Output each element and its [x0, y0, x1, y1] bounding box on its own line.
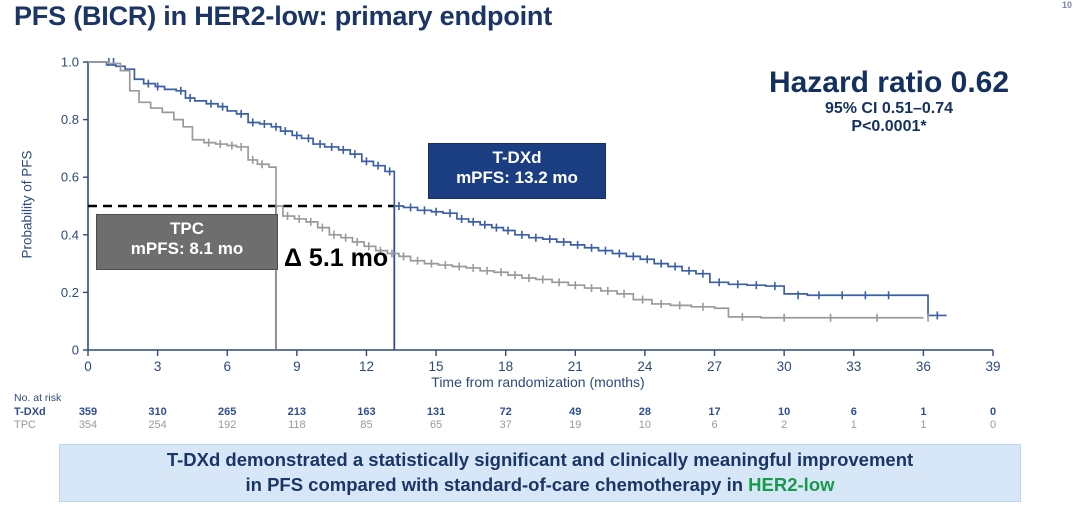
tpc-median-callout: TPC mPFS: 8.1 mo	[96, 214, 278, 270]
risk-cell: 19	[555, 419, 595, 431]
x-tick-label: 9	[293, 359, 301, 374]
tpc-arm-label: TPC	[107, 219, 267, 239]
tdxd-median-callout: T-DXd mPFS: 13.2 mo	[428, 143, 606, 199]
risk-cell: 49	[555, 406, 595, 418]
x-axis-title: Time from randomization (months)	[88, 374, 988, 390]
tdxd-mpfs-label: mPFS: 13.2 mo	[439, 168, 595, 188]
risk-cell: 85	[346, 419, 386, 431]
risk-table-rows: T-DXd3593102652131631317249281710610TPC3…	[14, 406, 1074, 432]
risk-cell: 10	[764, 406, 804, 418]
banner-highlight-term: HER2-low	[748, 474, 834, 495]
kaplan-meier-plot: 00.20.40.60.81.0036912151821242730333639…	[0, 0, 1080, 440]
risk-cell: 192	[207, 419, 247, 431]
x-tick-label: 33	[846, 359, 861, 374]
risk-cell: 2	[764, 419, 804, 431]
x-tick-label: 24	[637, 359, 653, 374]
conclusion-banner: T-DXd demonstrated a statistically signi…	[59, 444, 1021, 502]
slide-root: PFS (BICR) in HER2-low: primary endpoint…	[0, 0, 1080, 507]
y-tick-label: 0	[72, 343, 79, 358]
delta-annotation: Δ 5.1 mo	[284, 244, 388, 273]
risk-cell: 37	[486, 419, 526, 431]
risk-cell: 6	[834, 406, 874, 418]
number-at-risk-table: No. at risk T-DXd35931026521316313172492…	[14, 392, 1074, 432]
banner-line-2-text: in PFS compared with standard-of-care ch…	[245, 474, 748, 495]
risk-cell: 359	[68, 406, 108, 418]
y-tick-label: 0.4	[61, 227, 79, 242]
risk-cell: 254	[138, 419, 178, 431]
risk-cell: 163	[346, 406, 386, 418]
risk-cell: 1	[903, 419, 943, 431]
risk-cell: 65	[416, 419, 456, 431]
y-tick-label: 0.2	[61, 285, 79, 300]
x-tick-label: 36	[916, 359, 931, 374]
risk-cell: 72	[486, 406, 526, 418]
risk-cell: 0	[973, 406, 1013, 418]
banner-line-2: in PFS compared with standard-of-care ch…	[245, 473, 834, 498]
x-tick-label: 27	[707, 359, 722, 374]
risk-cell: 1	[834, 419, 874, 431]
risk-cell: 265	[207, 406, 247, 418]
x-tick-label: 39	[985, 359, 1000, 374]
risk-row-label: TPC	[14, 419, 36, 431]
risk-cell: 213	[277, 406, 317, 418]
banner-line-1: T-DXd demonstrated a statistically signi…	[167, 448, 913, 473]
risk-row-t-dxd: T-DXd3593102652131631317249281710610	[14, 406, 1074, 419]
y-axis-title: Probability of PFS	[20, 115, 35, 295]
x-tick-label: 21	[568, 359, 583, 374]
x-tick-label: 18	[498, 359, 513, 374]
risk-cell: 1	[903, 406, 943, 418]
x-tick-label: 3	[154, 359, 162, 374]
x-tick-label: 0	[84, 359, 92, 374]
tdxd-arm-label: T-DXd	[439, 148, 595, 168]
x-tick-label: 15	[429, 359, 444, 374]
x-tick-label: 12	[359, 359, 374, 374]
risk-cell: 118	[277, 419, 317, 431]
risk-cell: 10	[625, 419, 665, 431]
y-tick-label: 1.0	[61, 55, 79, 70]
x-tick-label: 6	[223, 359, 231, 374]
risk-table-title: No. at risk	[14, 392, 1074, 404]
risk-cell: 28	[625, 406, 665, 418]
risk-cell: 0	[973, 419, 1013, 431]
risk-cell: 354	[68, 419, 108, 431]
tpc-mpfs-label: mPFS: 8.1 mo	[107, 239, 267, 259]
risk-cell: 310	[138, 406, 178, 418]
x-tick-label: 30	[777, 359, 792, 374]
risk-row-label: T-DXd	[14, 406, 46, 418]
risk-cell: 6	[695, 419, 735, 431]
risk-cell: 131	[416, 406, 456, 418]
y-tick-label: 0.6	[61, 170, 79, 185]
risk-row-tpc: TPC354254192118856537191062110	[14, 419, 1074, 432]
risk-cell: 17	[695, 406, 735, 418]
y-tick-label: 0.8	[61, 112, 79, 127]
